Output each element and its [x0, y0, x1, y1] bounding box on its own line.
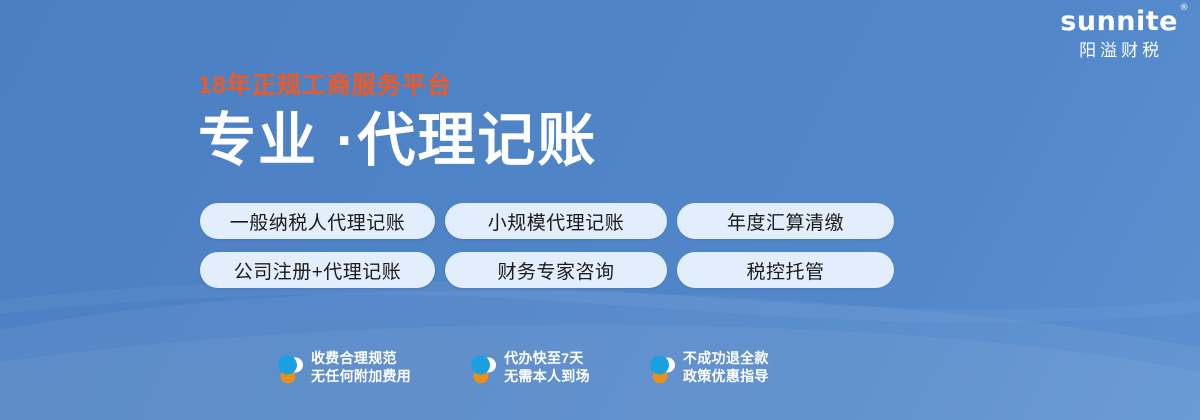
promo-banner: sunnite ® 阳溢财税 18年正规工商服务平台 专业 ·代理记账 一般纳税…	[0, 0, 1200, 420]
feature-line2: 无任何附加费用	[311, 368, 411, 386]
feature-text-guarantee: 不成功退全款 政策优惠指导	[683, 350, 769, 386]
dual-circle-icon	[276, 353, 304, 383]
service-pill-tax-control-hosting[interactable]: 税控托管	[677, 252, 894, 288]
service-pill-general-taxpayer[interactable]: 一般纳税人代理记账	[200, 203, 435, 239]
logo-wordmark: sunnite ®	[1060, 8, 1178, 35]
feature-item-speed: 代办快至7天 无需本人到场	[469, 350, 590, 386]
service-pill-small-scale[interactable]: 小规模代理记账	[445, 203, 667, 239]
feature-line2: 无需本人到场	[504, 368, 590, 386]
registered-trademark-icon: ®	[1180, 4, 1190, 13]
dual-circle-icon	[469, 353, 497, 383]
headline-block: 18年正规工商服务平台 专业 ·代理记账	[198, 74, 597, 173]
feature-line1: 代办快至7天	[504, 350, 584, 366]
feature-strip: 收费合理规范 无任何附加费用 代办快至7天 无需本人到场	[276, 350, 769, 386]
page-title: 专业 ·代理记账	[198, 110, 597, 173]
logo-chinese-name: 阳溢财税	[1060, 42, 1178, 59]
feature-item-guarantee: 不成功退全款 政策优惠指导	[648, 350, 769, 386]
dual-circle-icon	[648, 353, 676, 383]
feature-text-pricing: 收费合理规范 无任何附加费用	[311, 350, 411, 386]
service-pill-grid: 一般纳税人代理记账 小规模代理记账 年度汇算清缴 公司注册+代理记账 财务专家咨…	[200, 203, 894, 288]
brand-logo[interactable]: sunnite ® 阳溢财税	[1060, 8, 1178, 59]
headline-eyebrow: 18年正规工商服务平台	[198, 74, 597, 98]
service-pill-company-registration[interactable]: 公司注册+代理记账	[200, 252, 435, 288]
service-pill-annual-settlement[interactable]: 年度汇算清缴	[677, 203, 894, 239]
feature-line2: 政策优惠指导	[683, 368, 769, 386]
feature-item-pricing: 收费合理规范 无任何附加费用	[276, 350, 411, 386]
logo-wordmark-text: sunnite	[1060, 6, 1178, 37]
feature-text-speed: 代办快至7天 无需本人到场	[504, 350, 590, 386]
service-pill-expert-consulting[interactable]: 财务专家咨询	[445, 252, 667, 288]
feature-line1: 不成功退全款	[683, 350, 769, 366]
feature-line1: 收费合理规范	[311, 350, 397, 366]
